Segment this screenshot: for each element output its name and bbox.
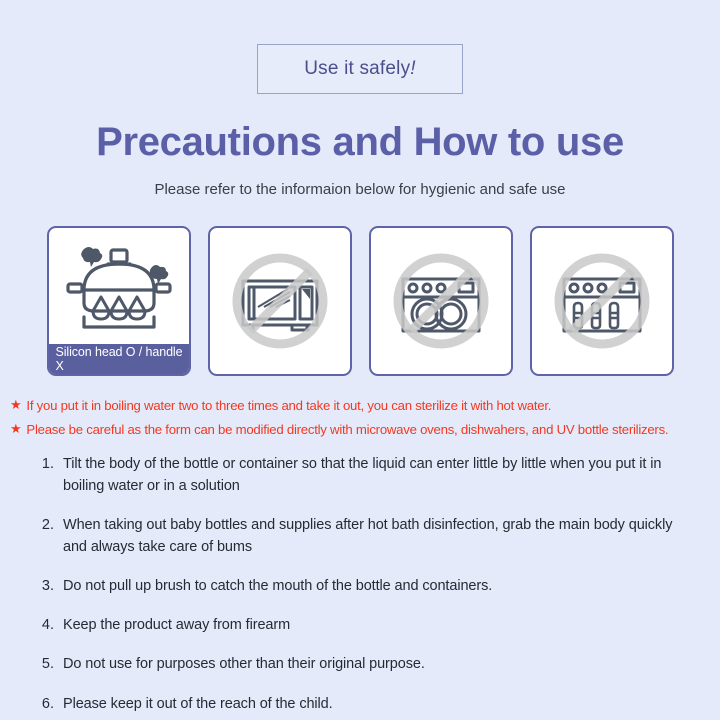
star-icon: ★ [10, 396, 21, 415]
page-subtitle: Please refer to the informaion below for… [0, 181, 720, 198]
dishwasher-prohibited-icon [377, 237, 505, 365]
list-item-number: 5. [32, 653, 54, 675]
star-icon: ★ [10, 420, 21, 439]
list-item: 2. When taking out baby bottles and supp… [32, 514, 686, 558]
precautions-page: Use it safely! Precautions and How to us… [0, 0, 720, 720]
badge-container: Use it safely! [0, 0, 720, 94]
list-item-text: Tilt the body of the bottle or container… [63, 453, 686, 497]
steaming-pot-icon [64, 245, 174, 331]
warning-list: ★ If you put it in boiling water two to … [0, 396, 720, 439]
list-item-number: 4. [32, 614, 54, 636]
list-item-text: Please keep it out of the reach of the c… [63, 693, 333, 715]
list-item: 3. Do not pull up brush to catch the mou… [32, 575, 686, 597]
warning-item: ★ If you put it in boiling water two to … [10, 396, 720, 415]
list-item-number: 1. [32, 453, 54, 475]
list-item-number: 3. [32, 575, 54, 597]
list-item-number: 6. [32, 693, 54, 715]
list-item: 1. Tilt the body of the bottle or contai… [32, 453, 686, 497]
list-item-text: Keep the product away from firearm [63, 614, 290, 636]
list-item: 6. Please keep it out of the reach of th… [32, 693, 686, 715]
panel-label-silicon-head: Silicon head O / handle X [49, 344, 189, 374]
warning-text: If you put it in boiling water two to th… [26, 396, 551, 415]
panel-microwave-prohibited [208, 226, 352, 376]
badge-exclamation: ! [410, 58, 415, 80]
list-item-number: 2. [32, 514, 54, 536]
panel-dishwasher-prohibited [369, 226, 513, 376]
microwave-oven-prohibited-icon [216, 237, 344, 365]
use-it-safely-badge: Use it safely! [257, 44, 463, 94]
list-item: 5. Do not use for purposes other than th… [32, 653, 686, 675]
instruction-list: 1. Tilt the body of the bottle or contai… [0, 453, 720, 714]
warning-item: ★ Please be careful as the form can be m… [10, 420, 720, 439]
badge-label: Use it safely [304, 58, 410, 80]
icon-panel-row: Silicon head O / handle X [0, 226, 720, 376]
list-item-text: Do not pull up brush to catch the mouth … [63, 575, 492, 597]
panel-silicon-head: Silicon head O / handle X [47, 226, 191, 376]
panel-uv-sterilizer-prohibited [530, 226, 674, 376]
list-item-text: Do not use for purposes other than their… [63, 653, 425, 675]
list-item-text: When taking out baby bottles and supplie… [63, 514, 686, 558]
warning-text: Please be careful as the form can be mod… [26, 420, 668, 439]
page-title: Precautions and How to use [0, 120, 720, 165]
list-item: 4. Keep the product away from firearm [32, 614, 686, 636]
uv-bottle-sterilizer-prohibited-icon [538, 237, 666, 365]
